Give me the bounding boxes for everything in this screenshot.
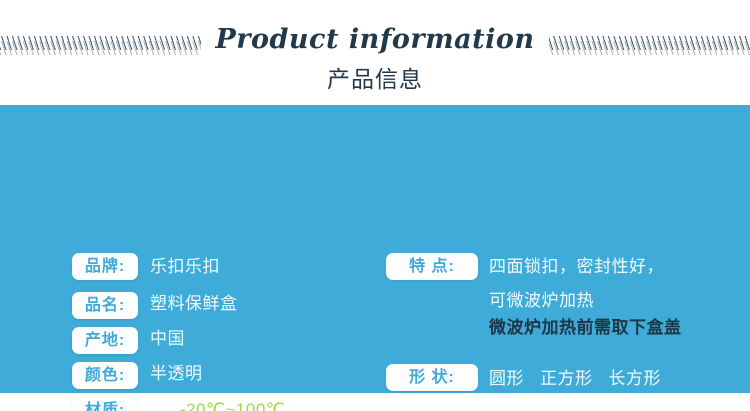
spec-value-features-line3: 微波炉加热前需取下盒盖 bbox=[489, 313, 682, 338]
spec-label-product-name: 品名: bbox=[72, 292, 138, 319]
material-line1-temperature-range: -20℃~100℃ bbox=[180, 400, 286, 411]
page-title-chinese: 产品信息 bbox=[0, 60, 750, 94]
spec-value-color: 半透明 bbox=[150, 359, 203, 384]
product-information-page: Product information 产品信息 品牌: 乐扣乐扣 品名: 塑料… bbox=[0, 0, 750, 411]
spec-label-features: 特 点: bbox=[386, 253, 478, 280]
spec-label-brand: 品牌: bbox=[72, 253, 138, 280]
material-line1-suffix: ）, bbox=[285, 400, 308, 411]
spec-value-brand: 乐扣乐扣 bbox=[150, 252, 220, 277]
spec-value-material-line1: PP(-20℃~100℃）, bbox=[150, 395, 308, 411]
info-panel: 品牌: 乐扣乐扣 品名: 塑料保鲜盒 产地: 中国 颜色: 半透明 材质: PP… bbox=[0, 105, 750, 393]
page-header: Product information 产品信息 bbox=[0, 0, 750, 105]
material-line1-prefix: PP( bbox=[150, 400, 180, 411]
shape-option-round: 圆形 bbox=[489, 369, 524, 388]
shape-option-square: 正方形 bbox=[540, 369, 593, 388]
spec-label-shape: 形 状: bbox=[386, 364, 478, 391]
page-title-english-text: Product information bbox=[201, 24, 548, 55]
shape-option-rectangle: 长方形 bbox=[609, 369, 662, 388]
page-title-english: Product information bbox=[0, 24, 750, 55]
spec-value-features-line2: 可微波炉加热 bbox=[489, 286, 594, 311]
spec-value-shape: 圆形正方形长方形 bbox=[489, 364, 677, 389]
spec-value-origin: 中国 bbox=[150, 324, 185, 349]
spec-label-color: 颜色: bbox=[72, 362, 138, 389]
spec-value-product-name: 塑料保鲜盒 bbox=[150, 289, 238, 314]
spec-label-origin: 产地: bbox=[72, 327, 138, 354]
spec-label-material: 材质: bbox=[72, 397, 138, 411]
spec-value-features-line1: 四面锁扣，密封性好， bbox=[489, 252, 664, 277]
